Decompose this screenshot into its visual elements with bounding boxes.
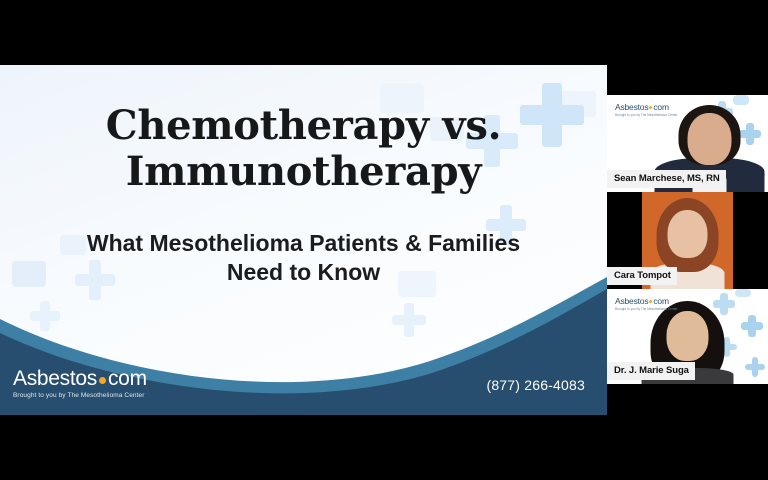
slide-title-line-1: Chemotherapy vs. xyxy=(0,103,607,149)
participant-face xyxy=(668,210,708,258)
participant-tile[interactable]: Asbestoscom Brought to you by The Mesoth… xyxy=(607,289,768,384)
slide-title-line-2: Immunotherapy xyxy=(0,149,607,195)
logo-word-asbestos: Asbestos xyxy=(13,367,97,390)
tile-logo-word-asbestos: Asbestos xyxy=(615,102,648,112)
letterbox-bar-top xyxy=(0,0,768,65)
tile-logo-word-com: com xyxy=(653,296,668,306)
participant-name-badge: Sean Marchese, MS, RN xyxy=(607,170,726,188)
slide-subtitle-line-1: What Mesothelioma Patients & Families xyxy=(0,229,607,258)
participant-name-badge: Dr. J. Marie Suga xyxy=(607,362,695,380)
tile-logo-word-asbestos: Asbestos xyxy=(615,296,648,306)
tile-logo-dot-icon xyxy=(649,106,652,109)
participant-face xyxy=(667,311,709,361)
participant-tile[interactable]: Asbestoscom Brought to you by The Mesoth… xyxy=(607,95,768,192)
tile-logo-wordmark: Asbestoscom xyxy=(615,103,678,112)
participant-tile[interactable]: Cara Tompot xyxy=(607,192,768,289)
contact-phone-number: (877) 266-4083 xyxy=(486,377,585,393)
letterbox-bar-bottom xyxy=(0,415,768,480)
participant-face xyxy=(688,113,732,165)
tile-logo-wordmark: Asbestoscom xyxy=(615,297,678,306)
logo-dot-icon xyxy=(99,377,106,384)
shared-screen-slide[interactable]: Chemotherapy vs. Immunotherapy What Meso… xyxy=(0,65,607,415)
tile-logo-dot-icon xyxy=(649,300,652,303)
video-call-screen: Chemotherapy vs. Immunotherapy What Meso… xyxy=(0,0,768,480)
tile-logo-tagline: Brought to you by The Mesothelioma Cente… xyxy=(615,308,678,311)
tile-logo-word-com: com xyxy=(653,102,668,112)
logo-wordmark: Asbestoscom xyxy=(13,368,147,389)
slide-title: Chemotherapy vs. Immunotherapy xyxy=(0,103,607,194)
tile-asbestos-logo: Asbestoscom Brought to you by The Mesoth… xyxy=(615,297,678,311)
participant-video-strip: Asbestoscom Brought to you by The Mesoth… xyxy=(607,65,768,415)
tile-logo-tagline: Brought to you by The Mesothelioma Cente… xyxy=(615,114,678,117)
participant-name-badge: Cara Tompot xyxy=(607,267,677,285)
asbestos-logo: Asbestoscom Brought to you by The Mesoth… xyxy=(13,368,147,400)
tile-asbestos-logo: Asbestoscom Brought to you by The Mesoth… xyxy=(615,103,678,117)
logo-tagline: Brought to you by The Mesothelioma Cente… xyxy=(13,393,147,400)
logo-word-com: com xyxy=(108,367,147,390)
